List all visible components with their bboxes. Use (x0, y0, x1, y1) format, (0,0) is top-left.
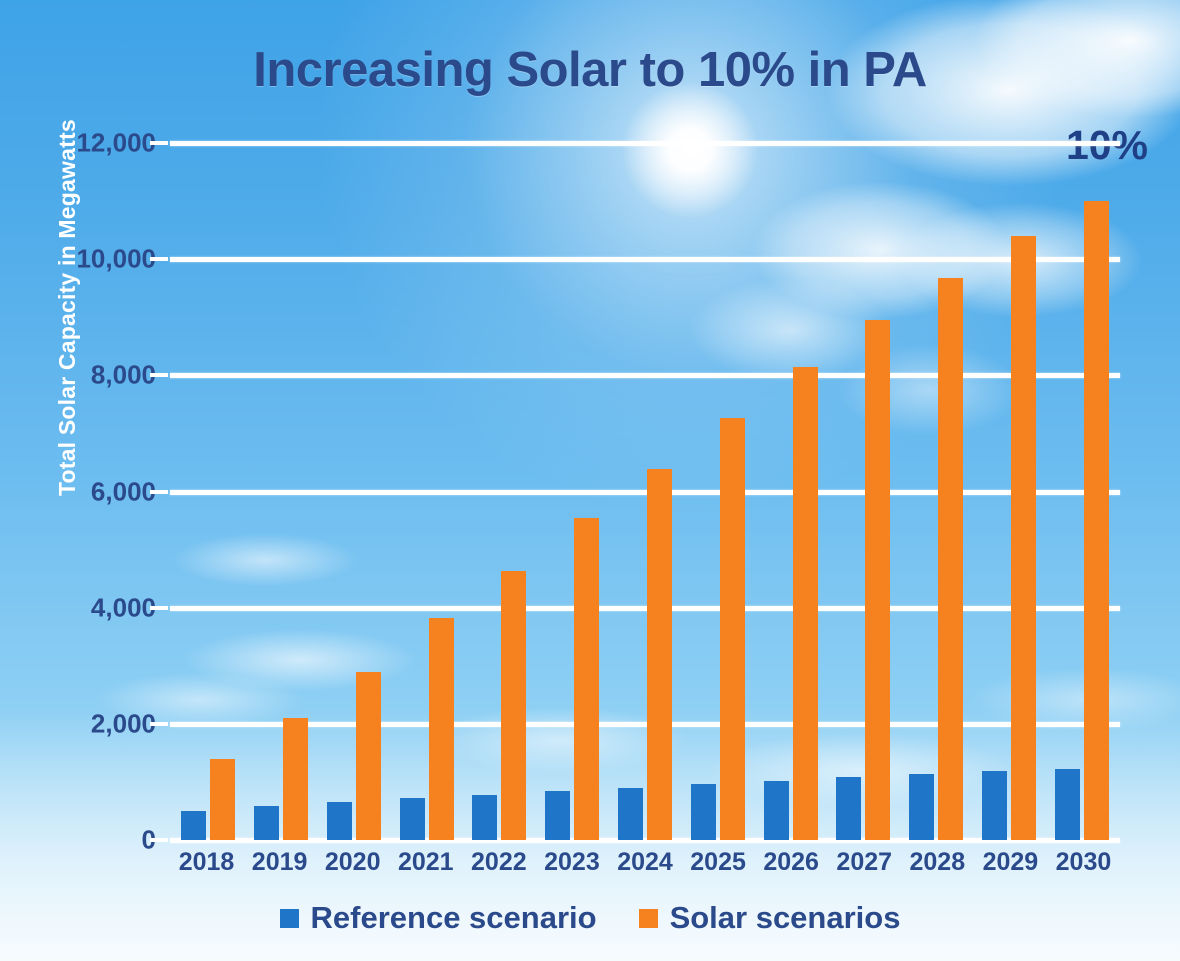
bar-reference-2028[interactable] (909, 774, 934, 840)
x-tick-label-2027: 2027 (828, 848, 901, 877)
x-axis-tick-labels: 2018201920202021202220232024202520262027… (170, 848, 1120, 877)
x-tick-label-2024: 2024 (608, 848, 681, 877)
bar-group-2030 (1045, 143, 1118, 840)
chart-title: Increasing Solar to 10% in PA (0, 42, 1180, 98)
y-tick-mark-8000 (150, 373, 168, 377)
bar-solar-2019[interactable] (283, 718, 308, 840)
x-tick-label-2025: 2025 (682, 848, 755, 877)
bar-reference-2027[interactable] (836, 777, 861, 840)
bar-reference-2029[interactable] (982, 771, 1007, 840)
x-tick-label-2026: 2026 (755, 848, 828, 877)
bar-solar-2022[interactable] (501, 571, 526, 841)
y-tick-label-8000: 8,000 (16, 360, 156, 391)
y-tick-mark-4000 (150, 606, 168, 610)
bar-solar-2027[interactable] (865, 320, 890, 840)
x-tick-label-2022: 2022 (462, 848, 535, 877)
bar-group-2019 (245, 143, 318, 840)
y-tick-mark-10000 (150, 257, 168, 261)
bar-group-2028 (900, 143, 973, 840)
bar-reference-2025[interactable] (691, 784, 716, 840)
y-tick-mark-2000 (150, 722, 168, 726)
bar-solar-2024[interactable] (647, 469, 672, 840)
legend-swatch-orange-icon (639, 909, 658, 928)
solar-capacity-bar-chart: Increasing Solar to 10% in PA 10% Total … (0, 0, 1180, 961)
x-tick-label-2029: 2029 (974, 848, 1047, 877)
x-tick-label-2023: 2023 (535, 848, 608, 877)
legend-item-reference-scenario: Reference scenario (280, 900, 597, 936)
y-tick-label-0: 0 (16, 825, 156, 856)
x-tick-label-2028: 2028 (901, 848, 974, 877)
bar-solar-2018[interactable] (210, 759, 235, 840)
bar-groups (170, 143, 1120, 840)
chart-legend: Reference scenario Solar scenarios (0, 900, 1180, 936)
bar-reference-2026[interactable] (764, 781, 789, 840)
x-tick-label-2020: 2020 (316, 848, 389, 877)
bar-group-2021 (390, 143, 463, 840)
bar-group-2027 (827, 143, 900, 840)
bar-reference-2024[interactable] (618, 788, 643, 840)
bar-solar-2020[interactable] (356, 672, 381, 840)
y-tick-mark-0 (150, 838, 168, 842)
x-tick-label-2021: 2021 (389, 848, 462, 877)
bar-reference-2021[interactable] (400, 798, 425, 840)
y-tick-label-12000: 12,000 (16, 128, 156, 159)
bar-group-2020 (318, 143, 391, 840)
x-tick-label-2030: 2030 (1047, 848, 1120, 877)
bar-group-2023 (536, 143, 609, 840)
y-tick-mark-6000 (150, 490, 168, 494)
bar-group-2026 (754, 143, 827, 840)
x-tick-label-2018: 2018 (170, 848, 243, 877)
x-tick-label-2019: 2019 (243, 848, 316, 877)
bar-group-2018 (172, 143, 245, 840)
bar-reference-2019[interactable] (254, 806, 279, 840)
plot-area (170, 143, 1120, 840)
bar-group-2024 (609, 143, 682, 840)
bar-reference-2018[interactable] (181, 811, 206, 840)
bar-group-2022 (463, 143, 536, 840)
bar-reference-2020[interactable] (327, 802, 352, 840)
bar-reference-2023[interactable] (545, 791, 570, 840)
y-tick-label-2000: 2,000 (16, 708, 156, 739)
bar-solar-2028[interactable] (938, 278, 963, 840)
bar-reference-2030[interactable] (1055, 769, 1080, 840)
bar-solar-2029[interactable] (1011, 236, 1036, 840)
y-tick-label-10000: 10,000 (16, 244, 156, 275)
y-tick-label-6000: 6,000 (16, 476, 156, 507)
bar-group-2025 (681, 143, 754, 840)
bar-group-2029 (972, 143, 1045, 840)
bar-solar-2023[interactable] (574, 518, 599, 840)
legend-label-solar-scenarios: Solar scenarios (670, 900, 901, 936)
bar-solar-2025[interactable] (720, 418, 745, 840)
legend-item-solar-scenarios: Solar scenarios (639, 900, 901, 936)
bar-solar-2021[interactable] (429, 618, 454, 840)
y-tick-label-4000: 4,000 (16, 592, 156, 623)
bar-solar-2026[interactable] (793, 367, 818, 840)
legend-swatch-blue-icon (280, 909, 299, 928)
y-tick-mark-12000 (150, 141, 168, 145)
bar-reference-2022[interactable] (472, 795, 497, 840)
bar-solar-2030[interactable] (1084, 201, 1109, 840)
legend-label-reference-scenario: Reference scenario (311, 900, 597, 936)
